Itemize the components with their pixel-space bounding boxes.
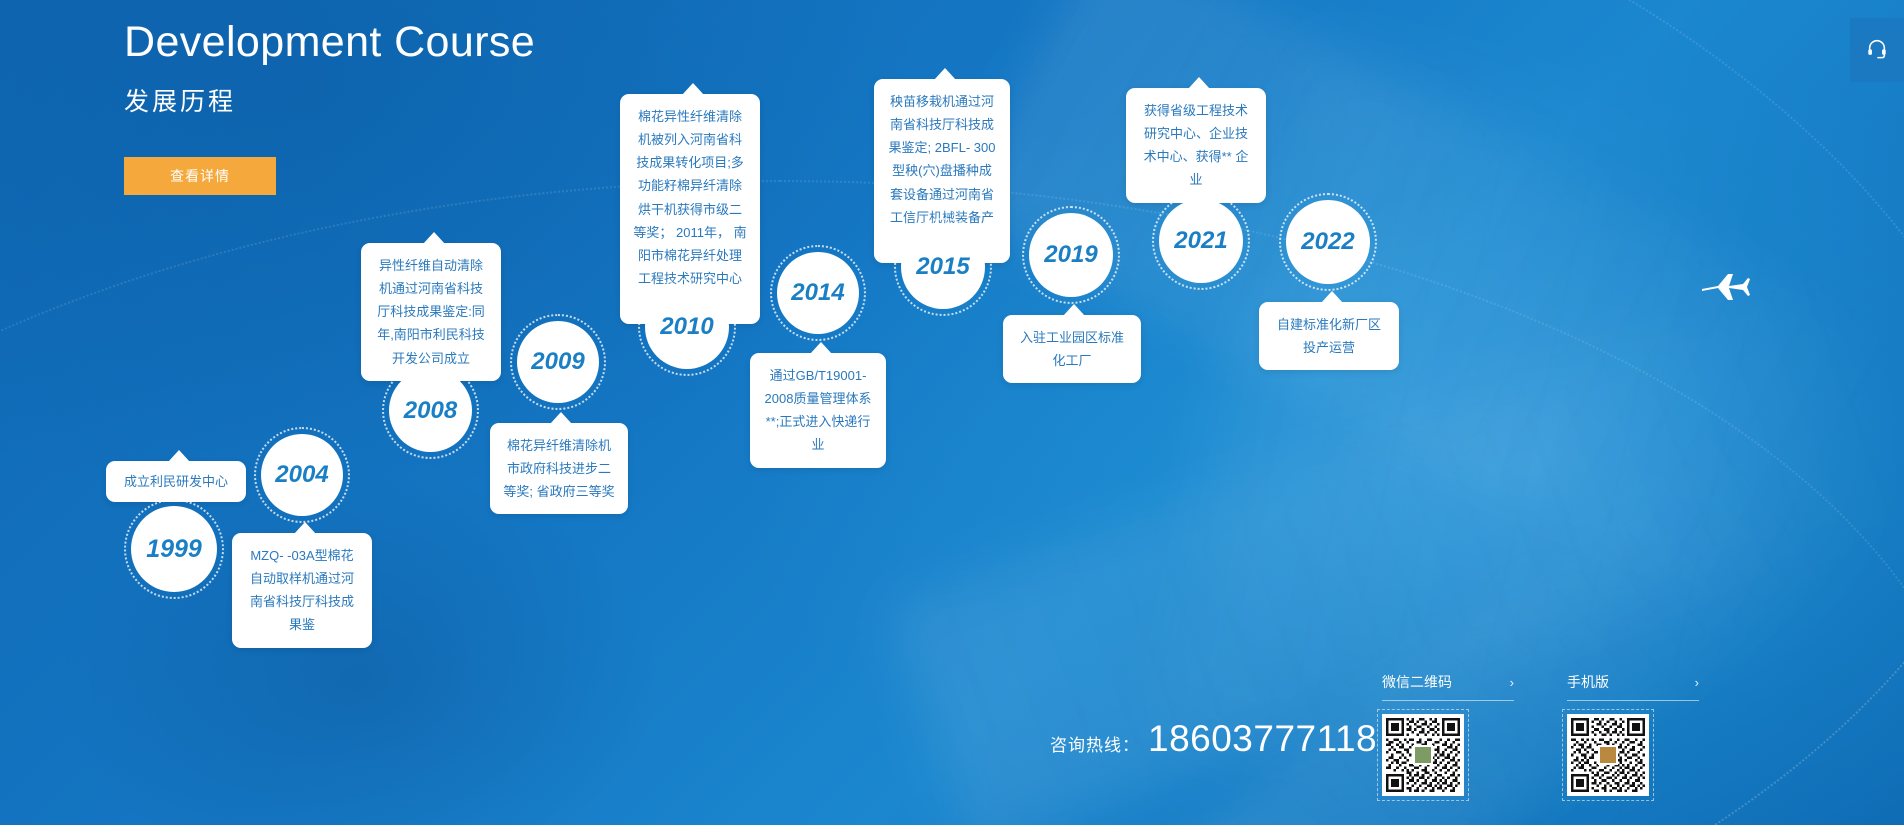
timeline-bubble[interactable]: 棉花异纤维清除机市政府科技进步二等奖; 省政府三等奖 bbox=[490, 423, 628, 514]
timeline-year-label: 2008 bbox=[404, 397, 457, 425]
qr-logo-icon bbox=[1413, 745, 1433, 765]
page-title-english: Development Course bbox=[124, 16, 535, 70]
timeline-bubble[interactable]: 获得省级工程技术研究中心、企业技术中心、获得** 企业 bbox=[1126, 88, 1266, 203]
customer-service-widget[interactable] bbox=[1850, 18, 1904, 82]
hotline-label: 咨询热线： bbox=[1050, 731, 1140, 756]
qr-mobile-label: 手机版 bbox=[1567, 672, 1609, 692]
timeline-year-label: 1999 bbox=[146, 535, 202, 564]
timeline-bubble[interactable]: 成立利民研发中心 bbox=[106, 461, 246, 502]
bubble-pointer-icon bbox=[168, 450, 190, 462]
qr-wechat-link[interactable]: 微信二维码 › bbox=[1382, 672, 1514, 701]
timeline-bubble-text: 成立利民研发中心 bbox=[124, 474, 228, 489]
bubble-pointer-icon bbox=[550, 412, 572, 424]
qr-logo-icon bbox=[1598, 745, 1618, 765]
qr-code-icon bbox=[1382, 714, 1464, 796]
hotline-number: 18603777118 bbox=[1148, 718, 1377, 760]
bubble-pointer-icon bbox=[1321, 291, 1343, 303]
timeline-year-label: 2022 bbox=[1301, 228, 1354, 256]
timeline-year-circle[interactable]: 2004 bbox=[261, 434, 343, 516]
bubble-pointer-icon bbox=[934, 68, 956, 80]
timeline-bubble-text: 获得省级工程技术研究中心、企业技术中心、获得** 企业 bbox=[1144, 103, 1249, 187]
timeline-year-label: 2019 bbox=[1044, 241, 1097, 269]
timeline-bubble-text: 棉花异纤维清除机市政府科技进步二等奖; 省政府三等奖 bbox=[503, 438, 614, 499]
timeline-year-circle[interactable]: 2014 bbox=[777, 252, 859, 334]
background-glow bbox=[1150, 180, 1904, 740]
bubble-pointer-icon bbox=[682, 83, 704, 95]
qr-block-mobile: 手机版 › bbox=[1567, 672, 1699, 796]
view-details-button[interactable]: 查看详情 bbox=[124, 157, 276, 195]
timeline-bubble[interactable]: 自建标准化新厂区投产运营 bbox=[1259, 302, 1399, 370]
timeline-year-circle[interactable]: 2019 bbox=[1029, 213, 1113, 297]
bubble-pointer-icon bbox=[810, 342, 832, 354]
bubble-pointer-icon bbox=[1063, 304, 1085, 316]
bubble-pointer-icon bbox=[1188, 77, 1210, 89]
timeline-bubble[interactable]: 异性纤维自动清除机通过河南省科技厅科技成果鉴定:同年,南阳市利民科技开发公司成立 bbox=[361, 243, 501, 381]
timeline-year-label: 2021 bbox=[1174, 227, 1227, 255]
timeline-year-circle[interactable]: 2015 bbox=[901, 225, 985, 309]
page-header: Development Course 发展历程 bbox=[124, 16, 535, 118]
development-course-section: Development Course 发展历程 查看详情 成立利民研发中心 19… bbox=[0, 0, 1904, 825]
timeline-bubble-text: MZQ- -03A型棉花自动取样机通过河南省科技厅科技成果鉴 bbox=[250, 548, 354, 632]
timeline-bubble[interactable]: 通过GB/T19001-2008质量管理体系**;正式进入快递行业 bbox=[750, 353, 886, 468]
timeline-year-circle[interactable]: 2008 bbox=[389, 369, 472, 452]
timeline-year-label: 2014 bbox=[791, 279, 844, 307]
timeline-year-label: 2004 bbox=[275, 461, 328, 489]
bubble-pointer-icon bbox=[423, 232, 445, 244]
timeline-year-circle[interactable]: 2010 bbox=[645, 285, 729, 369]
chevron-right-icon: › bbox=[1510, 675, 1514, 690]
timeline-bubble-text: 异性纤维自动清除机通过河南省科技厅科技成果鉴定:同年,南阳市利民科技开发公司成立 bbox=[377, 258, 485, 366]
timeline-year-circle[interactable]: 1999 bbox=[131, 506, 217, 592]
timeline-year-circle[interactable]: 2021 bbox=[1159, 199, 1243, 283]
timeline-year-label: 2010 bbox=[660, 313, 713, 341]
timeline-bubble[interactable]: MZQ- -03A型棉花自动取样机通过河南省科技厅科技成果鉴 bbox=[232, 533, 372, 648]
qr-block-wechat: 微信二维码 › bbox=[1382, 672, 1514, 796]
timeline-bubble[interactable]: 入驻工业园区标准化工厂 bbox=[1003, 315, 1141, 383]
headset-icon bbox=[1866, 37, 1888, 64]
timeline-year-circle[interactable]: 2022 bbox=[1286, 200, 1370, 284]
qr-wechat-label: 微信二维码 bbox=[1382, 672, 1452, 692]
timeline-year-label: 2009 bbox=[531, 348, 584, 376]
qr-code-icon bbox=[1567, 714, 1649, 796]
hotline-block: 咨询热线： 18603777118 bbox=[1050, 718, 1377, 760]
timeline-bubble-text: 入驻工业园区标准化工厂 bbox=[1020, 330, 1124, 368]
page-title-chinese: 发展历程 bbox=[124, 82, 535, 118]
timeline-year-label: 2015 bbox=[916, 253, 969, 281]
bubble-pointer-icon bbox=[294, 522, 316, 534]
timeline-bubble-text: 自建标准化新厂区投产运营 bbox=[1277, 317, 1381, 355]
chevron-right-icon: › bbox=[1695, 675, 1699, 690]
timeline-year-circle[interactable]: 2009 bbox=[517, 321, 599, 403]
qr-mobile-link[interactable]: 手机版 › bbox=[1567, 672, 1699, 701]
timeline-bubble-text: 通过GB/T19001-2008质量管理体系**;正式进入快递行业 bbox=[765, 368, 872, 452]
airplane-icon bbox=[1700, 270, 1752, 309]
